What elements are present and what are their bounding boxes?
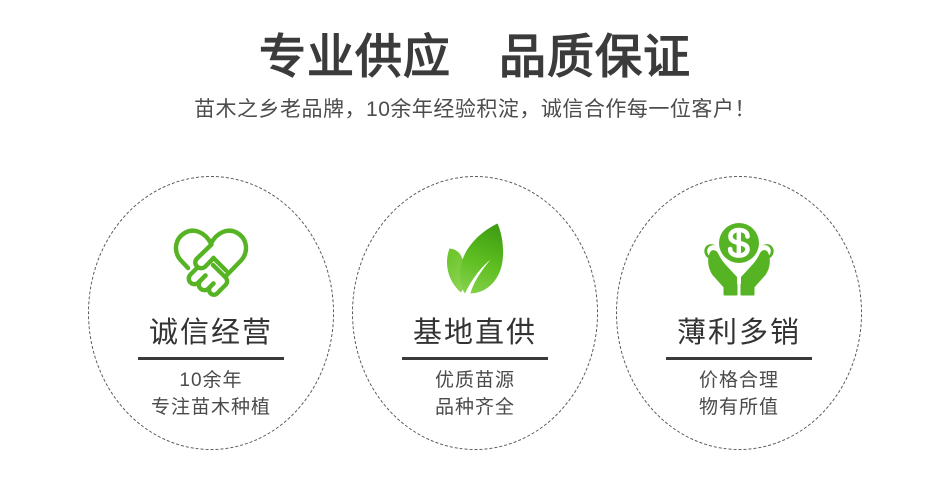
feature-title: 诚信经营 — [149, 318, 273, 350]
feature-item-direct-supply: 基地直供 优质苗源 品种齐全 — [339, 176, 611, 451]
feature-desc-line-1: 10余年 — [151, 368, 271, 395]
feature-divider — [138, 357, 284, 360]
feature-divider — [402, 357, 548, 360]
leaf-icon — [429, 218, 521, 304]
feature-item-low-margin: 薄利多销 价格合理 物有所值 — [603, 176, 875, 451]
feature-title: 薄利多销 — [677, 318, 801, 350]
feature-desc-line-2: 专注苗木种植 — [151, 395, 271, 422]
feature-item-integrity: 诚信经营 10余年 专注苗木种植 — [75, 176, 347, 451]
promo-banner: 专业供应 品质保证 苗木之乡老品牌，10余年经验积淀，诚信合作每一位客户！ — [0, 0, 950, 492]
feature-list: 诚信经营 10余年 专注苗木种植 — [0, 176, 950, 476]
feature-desc-line-1: 优质苗源 — [435, 368, 515, 395]
feature-description: 10余年 专注苗木种植 — [151, 368, 271, 422]
feature-divider — [666, 357, 812, 360]
page-subtitle: 苗木之乡老品牌，10余年经验积淀，诚信合作每一位客户！ — [0, 81, 950, 122]
feature-description: 优质苗源 品种齐全 — [435, 368, 515, 422]
feature-title: 基地直供 — [413, 318, 537, 350]
page-title: 专业供应 品质保证 — [0, 0, 950, 81]
feature-desc-line-1: 价格合理 — [699, 368, 779, 395]
feature-desc-line-2: 品种齐全 — [435, 395, 515, 422]
feature-description: 价格合理 物有所值 — [699, 368, 779, 422]
feature-desc-line-2: 物有所值 — [699, 395, 779, 422]
banner-header: 专业供应 品质保证 苗木之乡老品牌，10余年经验积淀，诚信合作每一位客户！ — [0, 0, 950, 123]
hands-money-icon — [693, 218, 785, 304]
handshake-icon — [165, 218, 257, 304]
